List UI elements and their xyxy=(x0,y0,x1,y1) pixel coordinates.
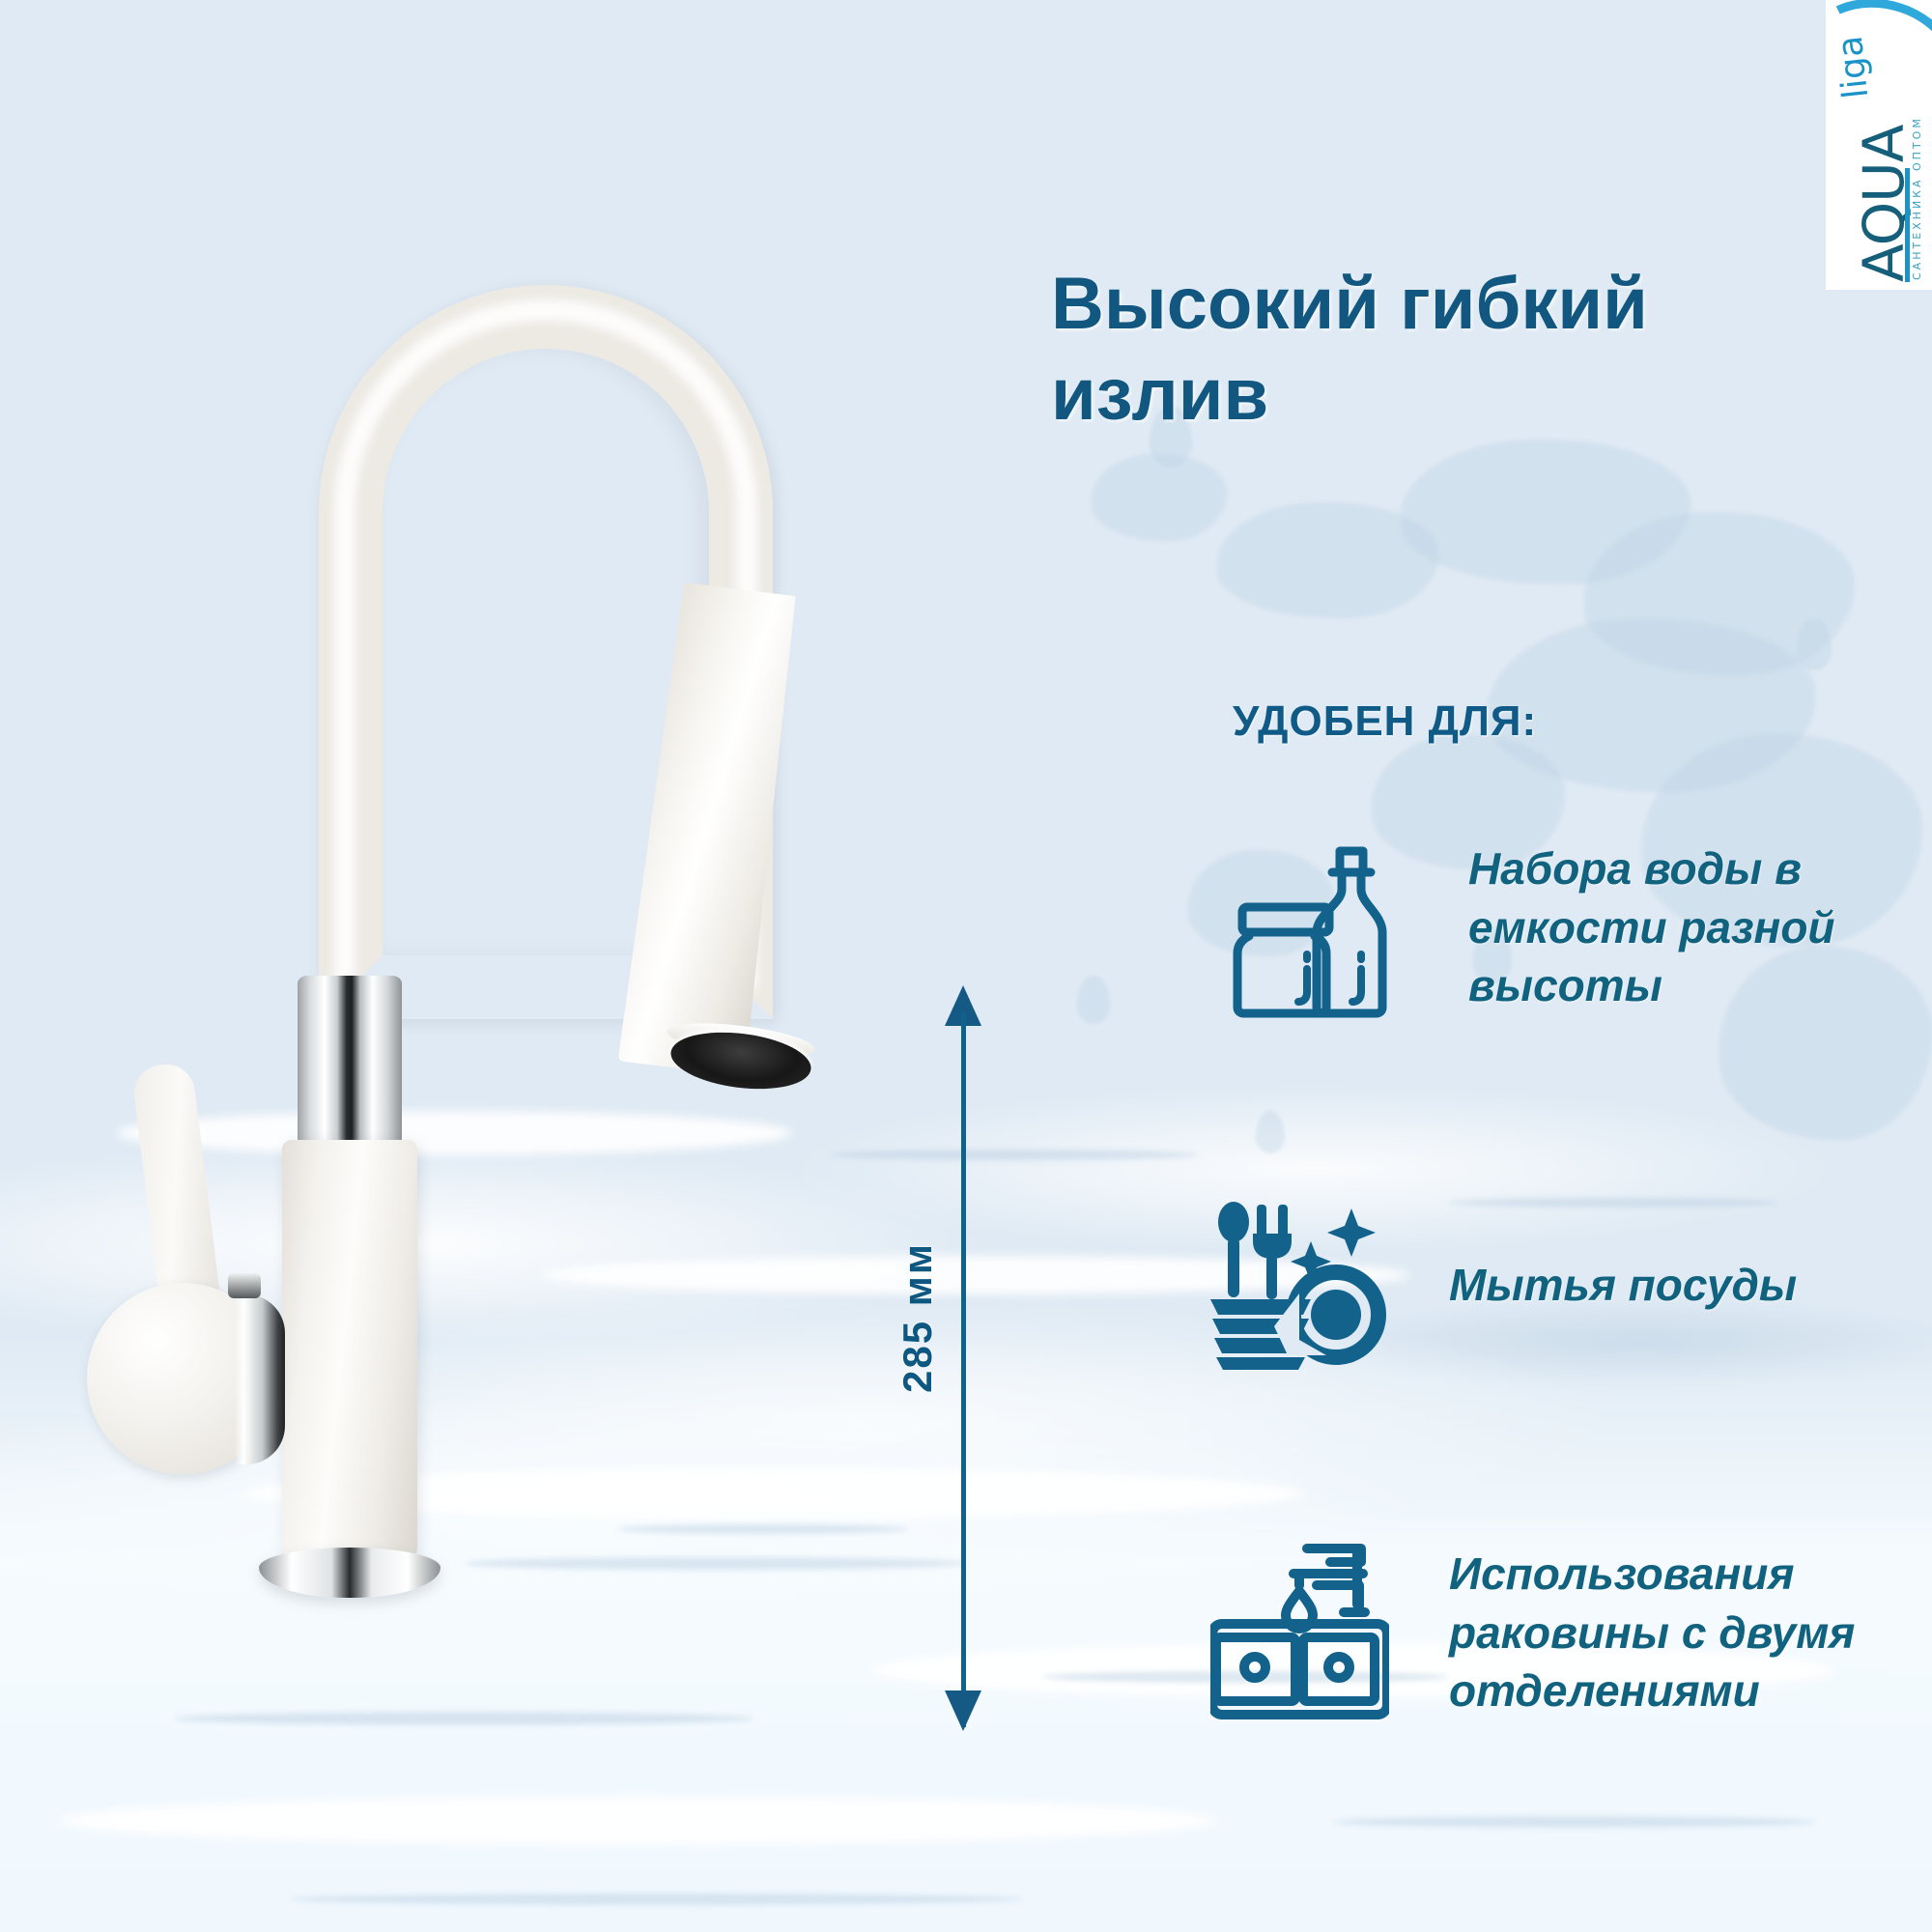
bottles-icon xyxy=(1232,836,1406,1019)
water-splash xyxy=(1217,502,1439,618)
feature-item: Использования раковины с двумя отделения… xyxy=(1207,1536,1922,1729)
faucet-body xyxy=(282,1140,417,1555)
page-title: Высокий гибкий излив xyxy=(1051,259,1785,440)
brand-logo[interactable]: AQUA liga САНТЕХНИКА ОПТОМ xyxy=(1826,0,1932,290)
feature-icon-wrapper xyxy=(1227,831,1410,1024)
section-heading: УДОБЕН ДЛЯ: xyxy=(1233,697,1537,746)
faucet-base-ring xyxy=(259,1548,440,1598)
water-droplet xyxy=(1077,976,1110,1024)
infographic-canvas: AQUA liga САНТЕХНИКА ОПТОМ Высокий гибки… xyxy=(0,0,1932,1932)
logo-tagline: САНТЕХНИКА ОПТОМ xyxy=(1911,116,1923,280)
wave-streak xyxy=(1333,1816,1816,1828)
feature-label: Использования раковины с двумя отделения… xyxy=(1449,1545,1922,1720)
feature-label: Мытья посуды xyxy=(1449,1256,1797,1315)
feature-item: Мытья посуды xyxy=(1207,1188,1922,1381)
logo-rule xyxy=(1905,168,1910,282)
water-splash xyxy=(1401,440,1690,584)
logo-sub-wordmark: liga xyxy=(1831,34,1877,100)
product-image-faucet xyxy=(58,270,1063,1777)
feature-item: Набора воды в емкости разной высоты xyxy=(1227,831,1932,1024)
wave-highlight xyxy=(58,1797,1217,1845)
water-droplet xyxy=(1256,1111,1285,1153)
faucet-lever-pin xyxy=(228,1273,261,1298)
water-splash xyxy=(1092,454,1227,541)
dishes-icon xyxy=(1210,1201,1389,1370)
water-droplet xyxy=(1797,618,1832,670)
double-sink-icon xyxy=(1210,1541,1389,1724)
water-splash xyxy=(1584,512,1855,676)
feature-icon-wrapper xyxy=(1207,1536,1391,1729)
faucet-lever-chrome-edge xyxy=(235,1294,285,1464)
feature-label: Набора воды в емкости разной высоты xyxy=(1468,839,1932,1015)
brand-logo-inner: AQUA liga САНТЕХНИКА ОПТОМ xyxy=(1826,0,1932,290)
faucet-chrome-collar xyxy=(298,976,402,1164)
feature-icon-wrapper xyxy=(1207,1188,1391,1381)
wave-streak xyxy=(290,1893,1024,1905)
